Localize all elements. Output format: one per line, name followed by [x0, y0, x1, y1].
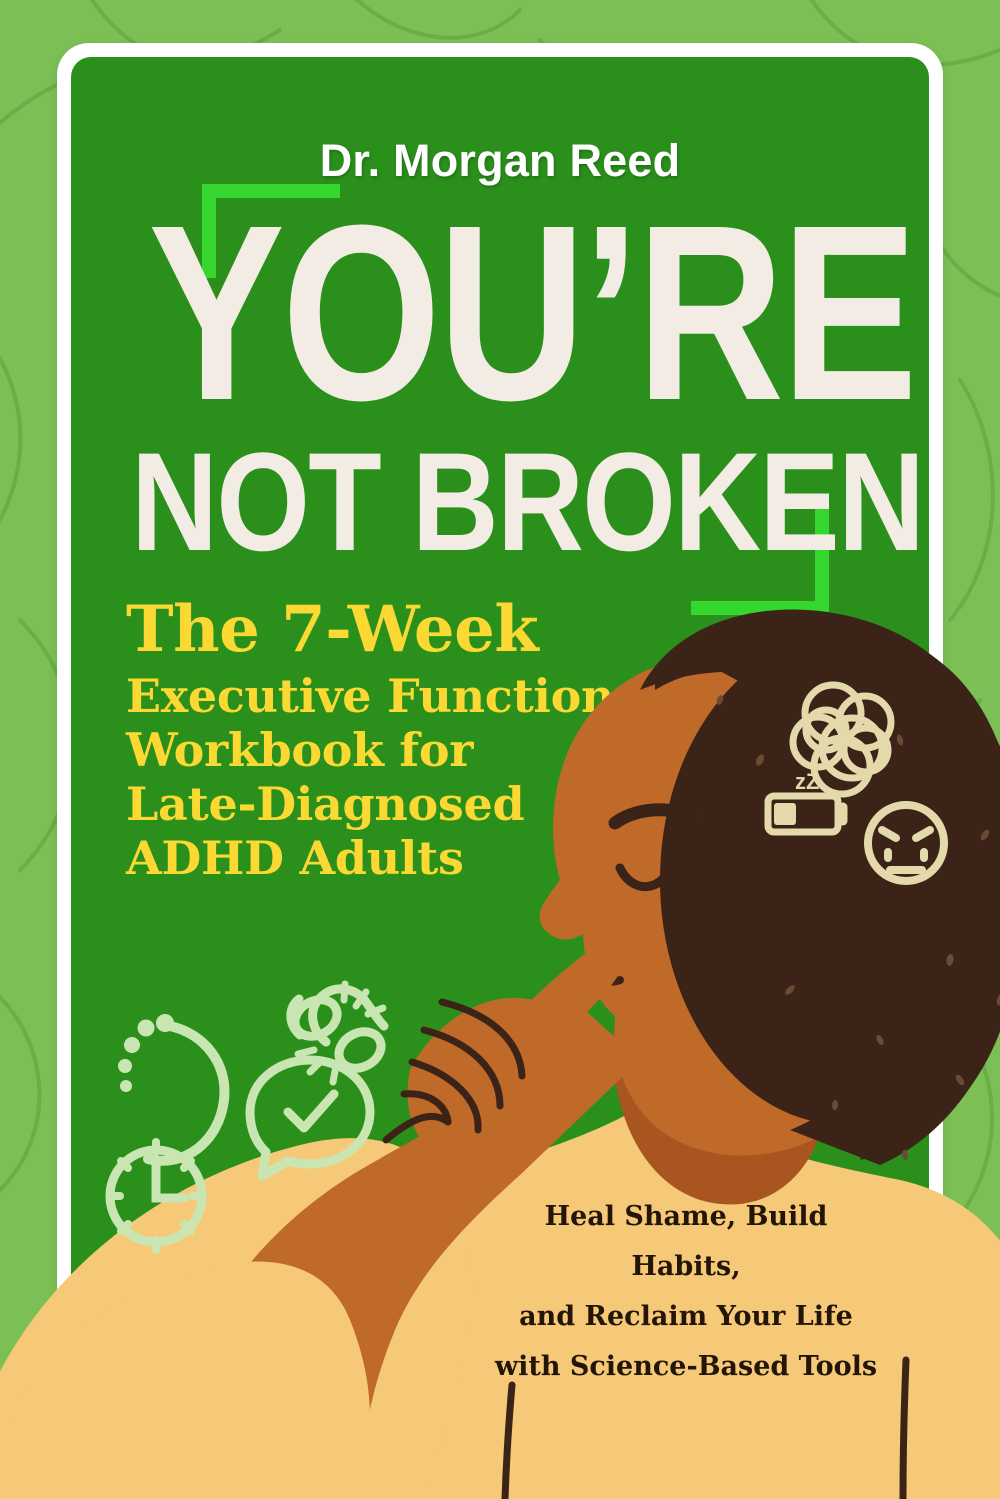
- speech-bubble-check-icon: [250, 1060, 370, 1176]
- low-battery-sleep-icon: zZ: [768, 769, 843, 832]
- book-cover: Dr. Morgan Reed YOU’RE NOT BROKEN The 7-…: [0, 0, 1000, 1499]
- angry-face-icon: [868, 805, 944, 881]
- book-tagline: Heal Shame, Build Habits, and Reclaim Yo…: [486, 1192, 886, 1392]
- loading-dots-icon: [118, 1014, 224, 1161]
- tagline-line-1: Heal Shame, Build Habits,: [486, 1192, 886, 1292]
- tagline-line-2: and Reclaim Your Life: [486, 1292, 886, 1342]
- tagline-line-3: with Science-Based Tools: [486, 1342, 886, 1392]
- svg-text:zZ: zZ: [795, 769, 819, 794]
